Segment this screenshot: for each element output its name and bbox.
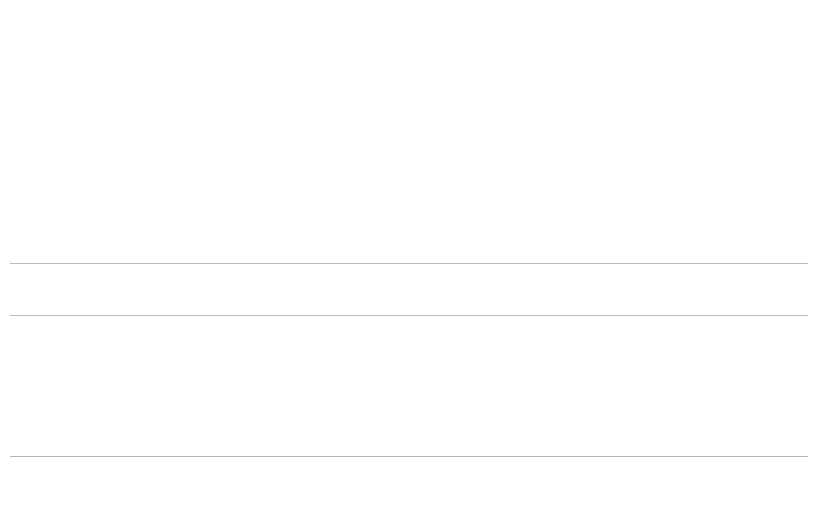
- infographic-root: [0, 0, 818, 514]
- bottom-city-labels: [0, 461, 818, 506]
- bottom-axis-line: [10, 456, 808, 457]
- top-risers-bar-chart: [0, 286, 818, 456]
- divider-top: [10, 263, 808, 264]
- inflation-bar-chart: [0, 36, 818, 206]
